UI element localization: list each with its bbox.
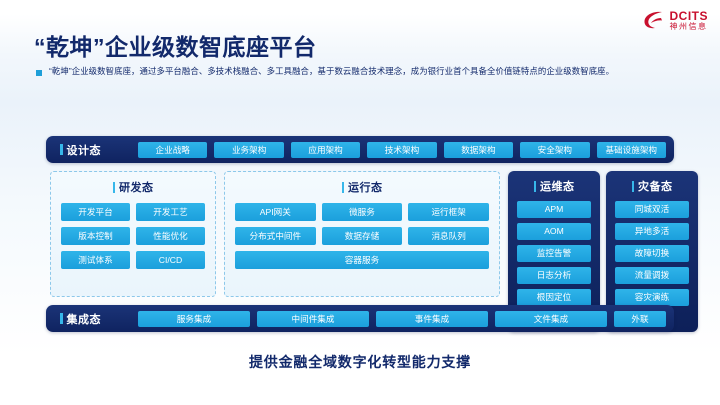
panel-run-title: 运行态 [348,179,383,195]
chip-ops-2[interactable]: 监控告警 [517,245,591,262]
tick-marker-icon [534,181,537,192]
panel-ops-title-group: 运维态 [508,178,600,194]
tick-marker-icon [113,182,116,193]
chip-ops-1[interactable]: AOM [517,223,591,240]
logo-text-en: DCITS [670,10,709,22]
subtitle-row: “乾坤”企业级数智底座，通过多平台融合、多技术栈融合、多工具融合，基于数云融合技… [36,66,696,77]
chip-integration-2[interactable]: 事件集成 [376,311,488,327]
bullet-square-icon [36,70,42,76]
chip-run-container-service[interactable]: 容器服务 [235,251,489,269]
chip-dr-2[interactable]: 故障切换 [615,245,689,262]
tick-marker-icon [60,313,63,324]
footer-tagline: 提供金融全域数字化转型能力支撑 [0,352,720,372]
panel-dev-title-group: 研发态 [51,179,215,195]
chip-dr-0[interactable]: 同城双活 [615,201,689,218]
chip-ops-3[interactable]: 日志分析 [517,267,591,284]
chip-design-6[interactable]: 基础设施架构 [597,142,666,158]
chip-dev-2[interactable]: 版本控制 [61,227,130,245]
chip-run-3[interactable]: 分布式中间件 [235,227,316,245]
layer-integration: 集成态 服务集成 中间件集成 事件集成 文件集成 外联 [46,305,674,332]
layer-integration-label-group: 集成态 [54,311,138,327]
chip-design-2[interactable]: 应用架构 [291,142,360,158]
slide-canvas: DCITS 神州信息 “乾坤”企业级数智底座平台 “乾坤”企业级数智底座，通过多… [0,0,720,405]
chip-run-0[interactable]: API网关 [235,203,316,221]
panel-dr-title-group: 灾备态 [606,178,698,194]
chip-ops-4[interactable]: 根因定位 [517,289,591,306]
chip-design-4[interactable]: 数据架构 [444,142,513,158]
panel-dev-chips: 开发平台 开发工艺 版本控制 性能优化 测试体系 CI/CD [51,195,215,269]
panel-run-chips: API网关 微服务 运行框架 分布式中间件 数据存储 消息队列 容器服务 [225,195,499,269]
panel-run-title-group: 运行态 [225,179,499,195]
chip-dr-1[interactable]: 异地多活 [615,223,689,240]
brand-logo: DCITS 神州信息 [642,9,709,31]
page-subtitle: “乾坤”企业级数智底座，通过多平台融合、多技术栈融合、多工具融合，基于数云融合技… [49,66,614,77]
panel-ops-title: 运维态 [540,178,575,194]
tick-marker-icon [342,182,345,193]
chip-dev-3[interactable]: 性能优化 [136,227,205,245]
panel-dev: 研发态 开发平台 开发工艺 版本控制 性能优化 测试体系 CI/CD [50,171,216,297]
logo-wordmark: DCITS 神州信息 [670,10,709,31]
chip-dev-5[interactable]: CI/CD [136,251,205,269]
logo-text-cn: 神州信息 [670,23,709,31]
chip-ops-0[interactable]: APM [517,201,591,218]
tick-marker-icon [60,144,63,155]
chip-run-2[interactable]: 运行框架 [408,203,489,221]
chip-design-5[interactable]: 安全架构 [520,142,589,158]
layer-design: 设计态 企业战略 业务架构 应用架构 技术架构 数据架构 安全架构 基础设施架构 [46,136,674,163]
layer-design-chips: 企业战略 业务架构 应用架构 技术架构 数据架构 安全架构 基础设施架构 [138,142,666,158]
panel-ops-chips: APM AOM 监控告警 日志分析 根因定位 [508,194,600,306]
chip-run-4[interactable]: 数据存储 [322,227,403,245]
layer-integration-label: 集成态 [67,311,102,327]
chip-integration-1[interactable]: 中间件集成 [257,311,369,327]
panel-dr-chips: 同城双活 异地多活 故障切换 流量调拨 容灾演练 [606,194,698,306]
chip-dev-0[interactable]: 开发平台 [61,203,130,221]
layer-design-label: 设计态 [67,142,102,158]
layer-design-label-group: 设计态 [54,142,138,158]
chip-design-0[interactable]: 企业战略 [138,142,207,158]
panel-run: 运行态 API网关 微服务 运行框架 分布式中间件 数据存储 消息队列 容器服务 [224,171,500,297]
tick-marker-icon [632,181,635,192]
chip-dev-1[interactable]: 开发工艺 [136,203,205,221]
panel-dev-title: 研发态 [119,179,154,195]
chip-dev-4[interactable]: 测试体系 [61,251,130,269]
panel-dr-title: 灾备态 [638,178,673,194]
chip-integration-0[interactable]: 服务集成 [138,311,250,327]
chip-design-1[interactable]: 业务架构 [214,142,283,158]
layer-integration-chips: 服务集成 中间件集成 事件集成 文件集成 外联 [138,311,666,327]
chip-run-1[interactable]: 微服务 [322,203,403,221]
chip-design-3[interactable]: 技术架构 [367,142,436,158]
chip-integration-3[interactable]: 文件集成 [495,311,607,327]
chip-integration-4[interactable]: 外联 [614,311,666,327]
architecture-diagram: 设计态 企业战略 业务架构 应用架构 技术架构 数据架构 安全架构 基础设施架构… [46,136,674,342]
dcits-swoosh-icon [642,9,666,31]
page-title: “乾坤”企业级数智底座平台 [34,28,317,62]
chip-dr-3[interactable]: 流量调拨 [615,267,689,284]
chip-dr-4[interactable]: 容灾演练 [615,289,689,306]
chip-run-5[interactable]: 消息队列 [408,227,489,245]
